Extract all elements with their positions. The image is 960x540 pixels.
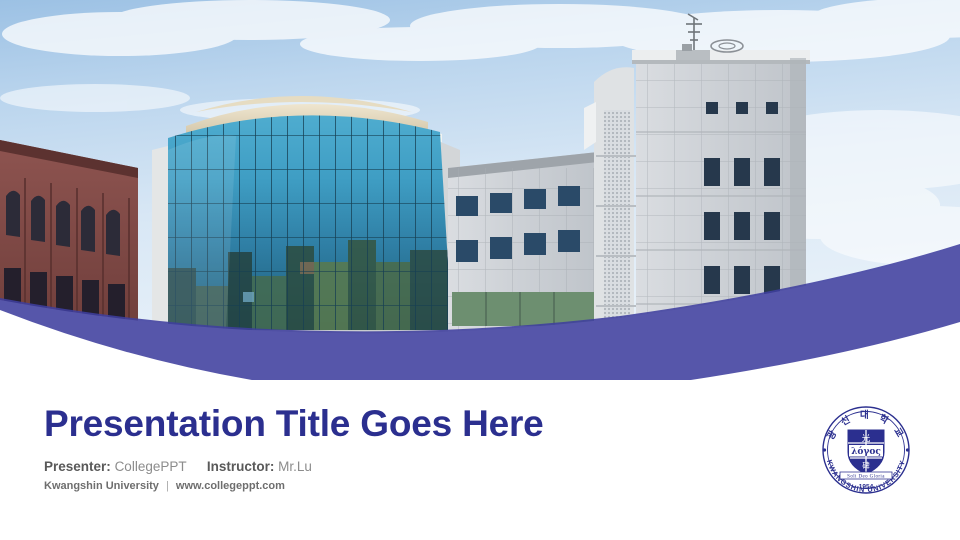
title-slide: Presentation Title Goes Here Presenter: … — [0, 0, 960, 540]
credit-separator: | — [162, 480, 173, 492]
campus-building-photograph — [0, 0, 960, 360]
credit-line: Kwangshin University | www.collegeppt.co… — [44, 480, 744, 492]
seal-svg: 광 신 대 학 교 KWANGSHIN UNIVERSITY 光 λόγ — [812, 396, 920, 504]
title-block: Presentation Title Goes Here Presenter: … — [44, 404, 744, 492]
page-title: Presentation Title Goes Here — [44, 404, 744, 445]
presenter-value: CollegePPT — [115, 459, 187, 474]
website-url[interactable]: www.collegeppt.com — [176, 480, 285, 492]
tiled-block — [448, 152, 598, 344]
kwangshin-university-seal: 광 신 대 학 교 KWANGSHIN UNIVERSITY 光 λόγ — [812, 396, 920, 504]
photo-svg — [0, 0, 960, 360]
presenter-label: Presenter: — [44, 459, 111, 474]
seal-motto: λόγος — [851, 446, 881, 457]
seal-banner-text: Soli Deo Gloria — [847, 475, 885, 480]
seal-founded-year: 1954 — [859, 484, 874, 491]
instructor-label: Instructor: — [207, 459, 275, 474]
seal-dot-right — [906, 448, 909, 451]
seal-dot-left — [823, 448, 826, 451]
presenter-meta: Presenter: CollegePPT Instructor: Mr.Lu — [44, 459, 744, 474]
seal-banner: Soli Deo Gloria — [840, 472, 892, 480]
seal-glyph-top: 光 — [862, 433, 871, 444]
organization-name: Kwangshin University — [44, 480, 159, 492]
instructor-value: Mr.Lu — [278, 459, 312, 474]
seal-glyph-bottom: 碑 — [862, 460, 870, 470]
